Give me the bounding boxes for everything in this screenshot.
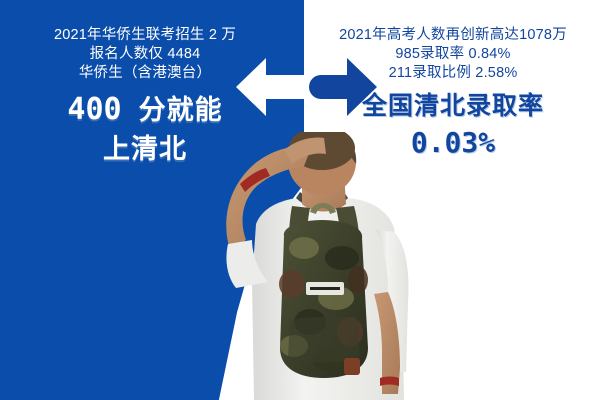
poster-root: 2021年华侨生联考招生 2 万 报名人数仅 4484 华侨生（含港澳台） 40… xyxy=(0,0,600,400)
right-arrow-glyph xyxy=(309,56,377,118)
right-headline-second: 0.03% xyxy=(306,125,600,162)
left-arrow-icon xyxy=(236,56,304,118)
left-headline-rest: 分就能 xyxy=(139,95,223,125)
backpack-leather-patch xyxy=(344,358,360,375)
student-photo xyxy=(218,132,418,400)
left-headline-number: 400 xyxy=(67,92,121,127)
right-arrow-icon xyxy=(309,56,377,118)
student-illustration xyxy=(218,132,418,400)
left-headline-second: 上清北 xyxy=(0,132,290,168)
backpack-brand-mark xyxy=(310,287,340,290)
left-line-1: 2021年华侨生联考招生 2 万 xyxy=(0,26,290,45)
left-arrow-glyph xyxy=(236,56,304,118)
right-line-1: 2021年高考人数再创新高达1078万 xyxy=(306,26,600,45)
backpack-front-pocket xyxy=(288,317,360,363)
